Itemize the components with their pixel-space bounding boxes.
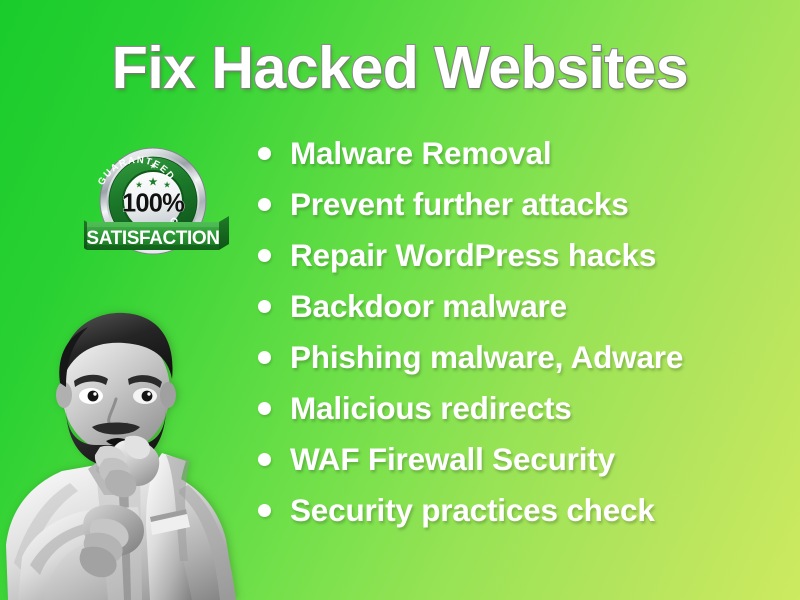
list-item: Phishing malware, Adware (258, 332, 788, 383)
presenter-photo (0, 295, 288, 600)
list-item: Prevent further attacks (258, 179, 788, 230)
list-item-label: Malicious redirects (290, 390, 572, 427)
svg-text:★: ★ (148, 177, 158, 189)
bullet-dot-icon (258, 198, 271, 211)
badge-ribbon-label: SATISFACTION (86, 228, 219, 249)
svg-text:★: ★ (135, 180, 143, 190)
badge-band-star-icon: ★ (149, 162, 156, 171)
satisfaction-guarantee-badge: GUARANTEED GUARANTEED ★ ★ ★ ★ ★ ★ 100% (84, 132, 252, 268)
list-item-label: WAF Firewall Security (290, 441, 615, 478)
person-cutout-image (0, 295, 288, 600)
list-item: Malware Removal (258, 128, 788, 179)
bullet-dot-icon (258, 147, 271, 160)
list-item: Malicious redirects (258, 383, 788, 434)
bullet-dot-icon (258, 453, 271, 466)
services-list: Malware Removal Prevent further attacks … (258, 128, 788, 536)
list-item-label: Phishing malware, Adware (290, 339, 683, 376)
list-item-label: Backdoor malware (290, 288, 567, 325)
bullet-dot-icon (258, 402, 271, 415)
page-title: Fix Hacked Websites (0, 34, 800, 102)
list-item: Security practices check (258, 485, 788, 536)
badge-percent-label: 100% (122, 190, 184, 218)
list-item: Backdoor malware (258, 281, 788, 332)
list-item-label: Security practices check (290, 492, 655, 529)
list-item: WAF Firewall Security (258, 434, 788, 485)
list-item-label: Prevent further attacks (290, 186, 629, 223)
list-item: Repair WordPress hacks (258, 230, 788, 281)
guarantee-seal-icon: GUARANTEED GUARANTEED ★ ★ ★ ★ ★ ★ 100% (84, 132, 252, 268)
bullet-dot-icon (258, 249, 271, 262)
bullet-dot-icon (258, 351, 271, 364)
bullet-dot-icon (258, 300, 271, 313)
bullet-dot-icon (258, 504, 271, 517)
list-item-label: Repair WordPress hacks (290, 237, 656, 274)
list-item-label: Malware Removal (290, 135, 551, 172)
promo-banner: Fix Hacked Websites (0, 0, 800, 600)
svg-text:★: ★ (163, 180, 171, 190)
